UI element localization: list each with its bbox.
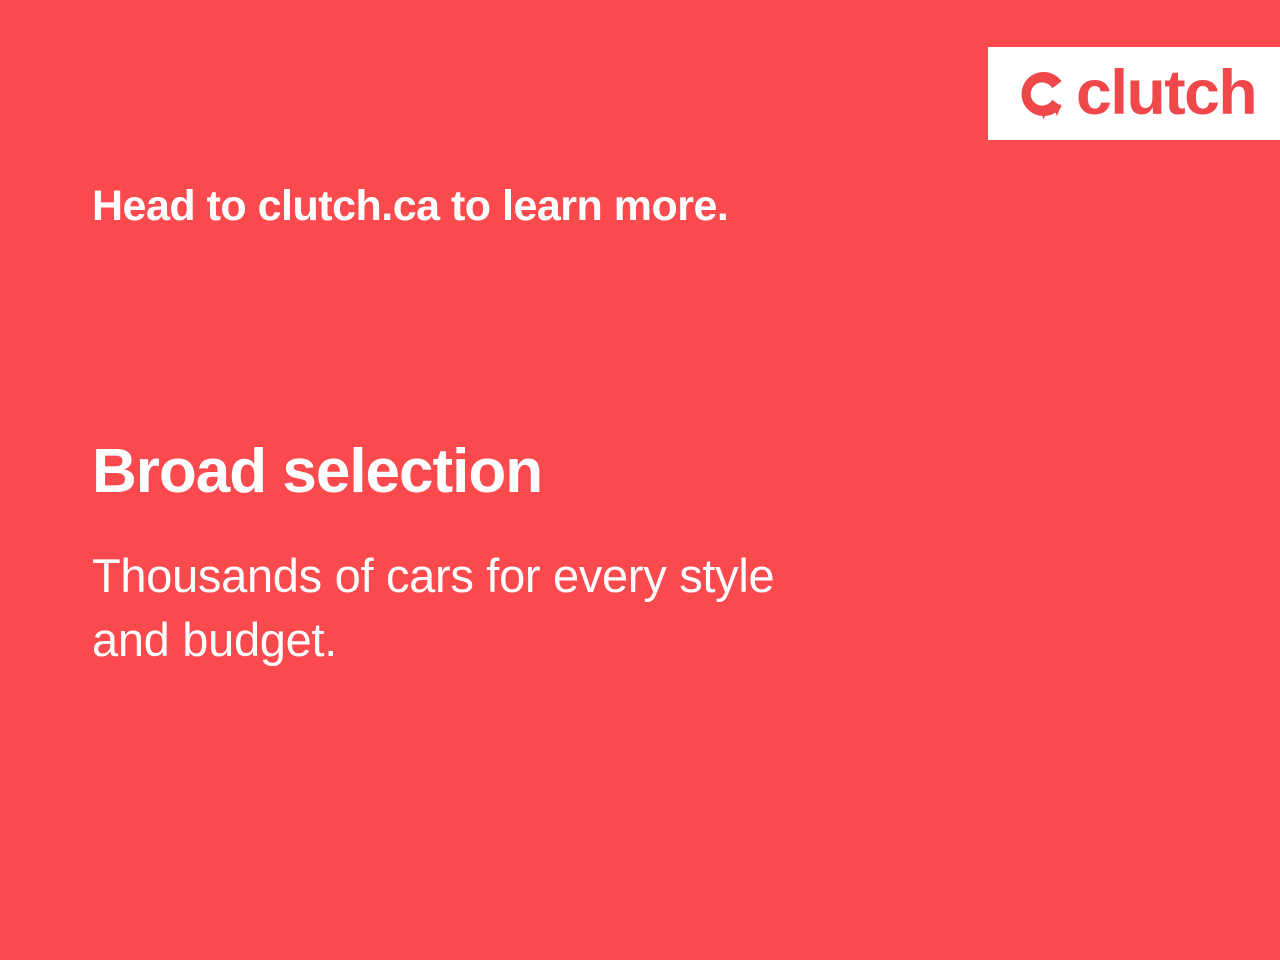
subheading-line-2: and budget. <box>92 608 1052 672</box>
subheading-line-1: Thousands of cars for every style <box>92 544 1052 608</box>
logo-lockup: clutch <box>1014 62 1253 125</box>
kicker-text: Head to clutch.ca to learn more. <box>92 182 728 231</box>
clutch-c-mark-icon <box>1014 65 1072 123</box>
clutch-logo-badge[interactable]: clutch <box>988 47 1280 140</box>
logo-wordmark: clutch <box>1076 62 1256 125</box>
subheading: Thousands of cars for every style and bu… <box>92 544 1052 672</box>
page-title: Broad selection <box>92 438 542 506</box>
slide-root: { "theme": { "background_color": "#fb4a4… <box>0 0 1280 960</box>
